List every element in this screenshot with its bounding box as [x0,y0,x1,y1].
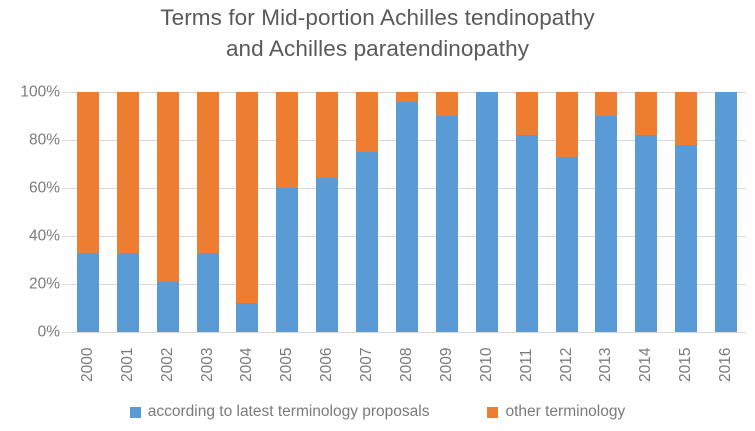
bar-segment-blue[interactable] [157,282,179,332]
y-axis: 0%20%40%60%80%100% [0,92,60,332]
bar-segment-blue[interactable] [556,157,578,332]
chart-container: Terms for Mid-portion Achilles tendinopa… [0,0,755,431]
chart-legend: according to latest terminology proposal… [0,403,755,421]
bar-group[interactable] [436,92,458,332]
y-tick-mark [62,236,67,237]
legend-item[interactable]: according to latest terminology proposal… [130,403,430,421]
bar-group[interactable] [675,92,697,332]
bar-segment-orange[interactable] [356,92,378,152]
bar-segment-orange[interactable] [77,92,99,253]
chart-title-line-2: and Achilles paratendinopathy [0,33,755,64]
y-tick-label: 40% [4,228,60,244]
x-tick-label: 2008 [396,336,418,394]
bar-group[interactable] [516,92,538,332]
bar-segment-orange[interactable] [675,92,697,145]
legend-label: according to latest terminology proposal… [148,403,430,421]
bar-segment-blue[interactable] [635,135,657,332]
legend-swatch-icon [487,407,498,418]
bar-group[interactable] [715,92,737,332]
bar-segment-orange[interactable] [276,92,298,188]
y-tick-mark [62,140,67,141]
bar-segment-blue[interactable] [675,145,697,332]
y-tick-label: 20% [4,276,60,292]
bar-segment-blue[interactable] [436,116,458,332]
x-tick-label: 2011 [516,336,538,394]
x-tick-label: 2003 [197,336,219,394]
bar-segment-orange[interactable] [556,92,578,157]
x-tick-label: 2007 [356,336,378,394]
x-tick-label: 2010 [476,336,498,394]
y-tick-mark [62,284,67,285]
bar-segment-orange[interactable] [157,92,179,282]
bar-group[interactable] [396,92,418,332]
chart-title-line-1: Terms for Mid-portion Achilles tendinopa… [0,2,755,33]
bar-group[interactable] [117,92,139,332]
x-axis-line [68,332,746,333]
bar-group[interactable] [77,92,99,332]
y-tick-mark [62,332,67,333]
bar-group[interactable] [157,92,179,332]
bar-segment-blue[interactable] [516,135,538,332]
y-tick-label: 100% [4,84,60,100]
legend-label: other terminology [505,403,625,421]
x-tick-label: 2015 [675,336,697,394]
bar-segment-orange[interactable] [117,92,139,253]
x-tick-label: 2009 [436,336,458,394]
bar-segment-blue[interactable] [236,303,258,332]
bar-group[interactable] [276,92,298,332]
bar-group[interactable] [595,92,617,332]
bar-group[interactable] [635,92,657,332]
y-tick-mark [62,188,67,189]
bar-segment-blue[interactable] [356,152,378,332]
x-tick-label: 2001 [117,336,139,394]
x-tick-label: 2012 [556,336,578,394]
x-tick-label: 2005 [276,336,298,394]
bar-group[interactable] [356,92,378,332]
bar-segment-orange[interactable] [595,92,617,116]
bar-segment-blue[interactable] [316,178,338,332]
bar-segment-orange[interactable] [396,92,418,102]
bar-segment-blue[interactable] [117,253,139,332]
bar-group[interactable] [476,92,498,332]
bar-segment-orange[interactable] [635,92,657,135]
x-tick-label: 2000 [77,336,99,394]
x-tick-label: 2016 [715,336,737,394]
y-tick-label: 80% [4,132,60,148]
bar-segment-blue[interactable] [715,92,737,332]
bar-segment-orange[interactable] [436,92,458,116]
bar-segment-orange[interactable] [236,92,258,303]
x-tick-label: 2006 [316,336,338,394]
y-tick-label: 0% [4,324,60,340]
legend-swatch-icon [130,407,141,418]
bar-segment-blue[interactable] [476,92,498,332]
chart-title: Terms for Mid-portion Achilles tendinopa… [0,2,755,64]
x-tick-label: 2002 [157,336,179,394]
bar-segment-blue[interactable] [595,116,617,332]
legend-item[interactable]: other terminology [487,403,625,421]
bar-segment-blue[interactable] [276,188,298,332]
x-tick-label: 2014 [635,336,657,394]
x-tick-label: 2013 [595,336,617,394]
x-tick-label: 2004 [236,336,258,394]
bar-segment-blue[interactable] [396,102,418,332]
plot-area [68,92,746,332]
bar-group[interactable] [236,92,258,332]
bar-group[interactable] [556,92,578,332]
bar-segment-orange[interactable] [316,92,338,178]
x-axis: 2000200120022003200420052006200720082009… [68,336,746,398]
y-tick-mark [62,92,67,93]
bar-group[interactable] [197,92,219,332]
y-tick-label: 60% [4,180,60,196]
bar-segment-blue[interactable] [197,253,219,332]
bar-segment-blue[interactable] [77,253,99,332]
bar-segment-orange[interactable] [516,92,538,135]
bar-group[interactable] [316,92,338,332]
bar-segment-orange[interactable] [197,92,219,253]
